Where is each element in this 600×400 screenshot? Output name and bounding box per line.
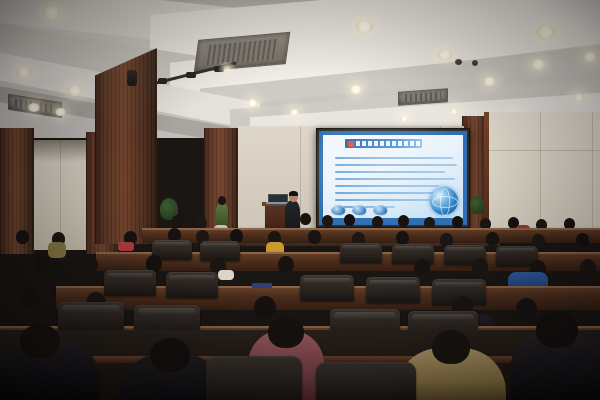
chair-highlight — [169, 275, 215, 281]
audience-head — [278, 256, 294, 273]
foreground-head-pink — [268, 316, 304, 348]
track-spot-2 — [158, 78, 167, 84]
slide-body-line — [335, 157, 453, 159]
audience-head — [472, 258, 488, 275]
track-spot-3 — [186, 72, 196, 78]
recessed-downlight — [483, 77, 496, 86]
column-speaker — [127, 70, 137, 86]
foreground-head-left — [20, 324, 60, 358]
lecture-hall-photo — [0, 0, 600, 400]
slide-body-line — [335, 178, 455, 180]
recessed-downlight — [16, 67, 32, 78]
audience-head — [16, 230, 29, 244]
audience-head — [34, 254, 50, 271]
chair-highlight — [138, 308, 196, 315]
recessed-downlight — [536, 25, 556, 39]
recessed-downlight — [28, 103, 40, 112]
recessed-downlight — [355, 20, 374, 33]
audience-head — [576, 233, 589, 247]
slide-border-top — [319, 131, 467, 135]
audience-white-sleeve — [218, 270, 234, 280]
slide-body-line — [335, 199, 431, 201]
laptop-base — [266, 202, 288, 204]
ac-vent-grill — [206, 39, 277, 64]
stage-staff-head — [218, 196, 226, 205]
chair-highlight — [202, 243, 237, 247]
recessed-downlight — [350, 85, 362, 94]
foreground-head-center-left — [150, 338, 190, 372]
recessed-downlight — [55, 108, 66, 116]
wall-seam — [487, 150, 600, 151]
chair-highlight — [62, 305, 120, 312]
track-spot-glow — [216, 62, 238, 76]
slide-body-line — [335, 171, 445, 173]
ac-vent-grill-right — [405, 92, 441, 102]
audience-head — [486, 232, 499, 246]
chair-foreground — [316, 362, 416, 400]
chair-highlight — [334, 312, 396, 319]
recessed-downlight — [573, 93, 585, 102]
recessed-downlight — [290, 109, 299, 116]
foreground-head-right — [536, 312, 578, 348]
ceiling-sensor-1 — [455, 59, 462, 65]
slide-title-banner — [345, 139, 422, 148]
audience-head — [580, 259, 596, 276]
recessed-downlight — [42, 6, 61, 19]
presenter-hair — [289, 191, 298, 196]
chair-highlight — [154, 242, 189, 246]
audience-head — [82, 256, 98, 273]
chair-highlight — [412, 314, 474, 321]
foreground-head-khaki — [432, 330, 470, 364]
chair-highlight — [107, 273, 153, 279]
slide-title-text — [356, 141, 422, 146]
slide-body-line — [335, 185, 439, 187]
ceiling-sensor-2 — [472, 60, 478, 66]
slide-title-tag — [348, 141, 354, 147]
audience-head — [308, 230, 321, 244]
recessed-downlight — [67, 85, 83, 96]
slide-body-line — [335, 164, 457, 166]
recessed-downlight — [531, 59, 546, 70]
recessed-downlight — [437, 49, 453, 60]
audience-head — [254, 296, 276, 319]
chair-foreground — [206, 356, 302, 400]
audience-head — [20, 288, 40, 309]
audience-head — [516, 298, 537, 320]
wall-shadow-left — [33, 140, 87, 162]
audience-head — [414, 259, 430, 276]
recessed-downlight — [400, 116, 409, 122]
recessed-downlight — [583, 52, 597, 62]
recessed-downlight — [247, 99, 258, 107]
recessed-downlight — [449, 108, 459, 115]
audience-head — [396, 231, 409, 245]
